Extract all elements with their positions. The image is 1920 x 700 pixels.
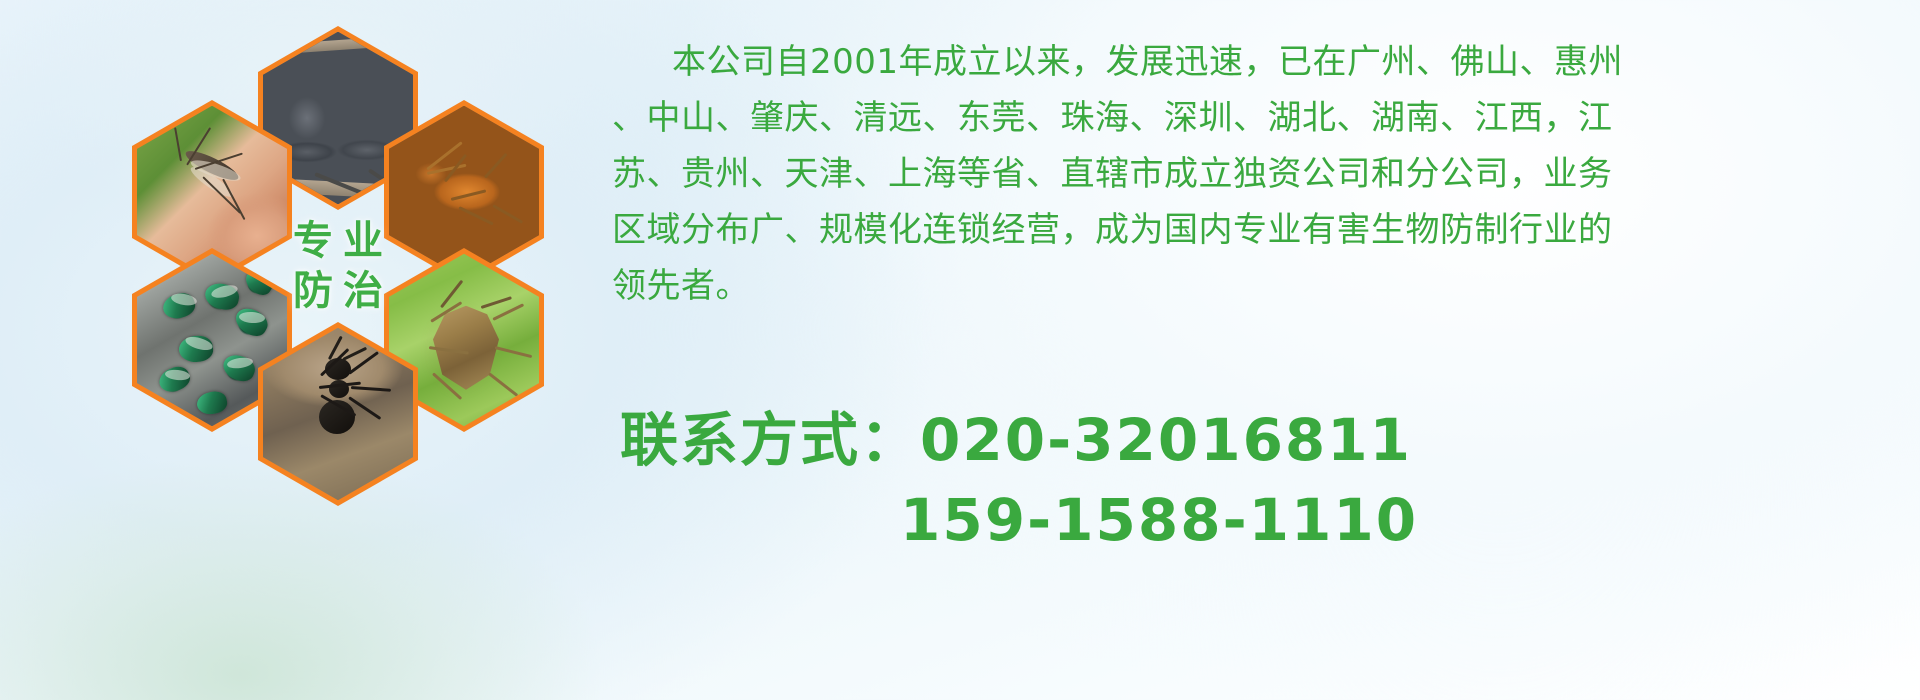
contact-phone-mobile[interactable]: 159-1588-1110 — [620, 480, 1920, 560]
hex-label-line2: 防治 — [283, 271, 393, 311]
description-line-1: 本公司自2001年成立以来，发展迅速，已在广州、佛山、惠州 — [612, 34, 1912, 90]
description-line-3: 苏、贵州、天津、上海等省、直辖市成立独资公司和分公司，业务 — [612, 146, 1912, 202]
description-line-5: 领先者。 — [612, 258, 1912, 314]
description-line-2: 、中山、肇庆、清远、东莞、珠海、深圳、湖北、湖南、江西，江 — [612, 90, 1912, 146]
company-description: 本公司自2001年成立以来，发展迅速，已在广州、佛山、惠州 、中山、肇庆、清远、… — [612, 34, 1912, 314]
contact-phone-landline[interactable]: 联系方式：020-32016811 — [620, 400, 1920, 480]
hex-label-line1: 专业 — [283, 221, 393, 261]
contact-block: 联系方式：020-32016811 159-1588-1110 — [620, 400, 1920, 560]
hex-center-label: 专业 防治 — [258, 174, 418, 358]
description-line-4: 区域分布广、规模化连锁经营，成为国内专业有害生物防制行业的 — [612, 202, 1912, 258]
hex-photo-collage: 专业 防治 — [90, 10, 590, 570]
